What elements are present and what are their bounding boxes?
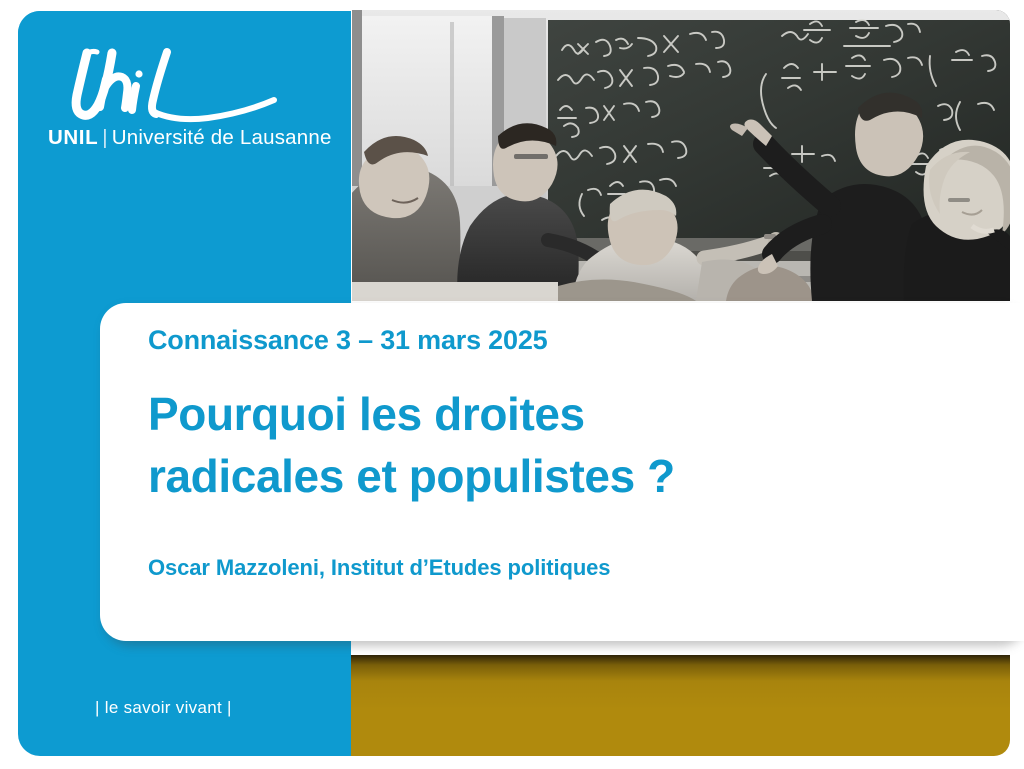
unil-logo: UNIL|Université de Lausanne	[44, 46, 334, 156]
unil-wordmark: UNIL|Université de Lausanne	[48, 126, 332, 150]
wordmark-full: Université de Lausanne	[112, 126, 332, 149]
unil-tagline: | le savoir vivant |	[95, 698, 232, 718]
slide-title: Pourquoi les droites radicales et populi…	[148, 384, 1006, 507]
content-card: Connaissance 3 – 31 mars 2025 Pourquoi l…	[100, 303, 1024, 641]
event-subtitle: Connaissance 3 – 31 mars 2025	[148, 325, 1006, 356]
slide-title-line-2: radicales et populistes ?	[148, 446, 1006, 508]
unil-script-logo-icon	[54, 46, 284, 124]
classroom-blackboard-photo	[352, 10, 1010, 301]
presentation-slide: Connaissance 3 – 31 mars 2025 Pourquoi l…	[0, 0, 1024, 769]
author-affiliation: Oscar Mazzoleni, Institut d’Etudes polit…	[148, 555, 1006, 581]
gold-accent-bar	[351, 655, 1010, 756]
wordmark-short: UNIL	[48, 126, 98, 149]
slide-title-line-1: Pourquoi les droites	[148, 384, 1006, 446]
wordmark-separator: |	[98, 126, 112, 149]
